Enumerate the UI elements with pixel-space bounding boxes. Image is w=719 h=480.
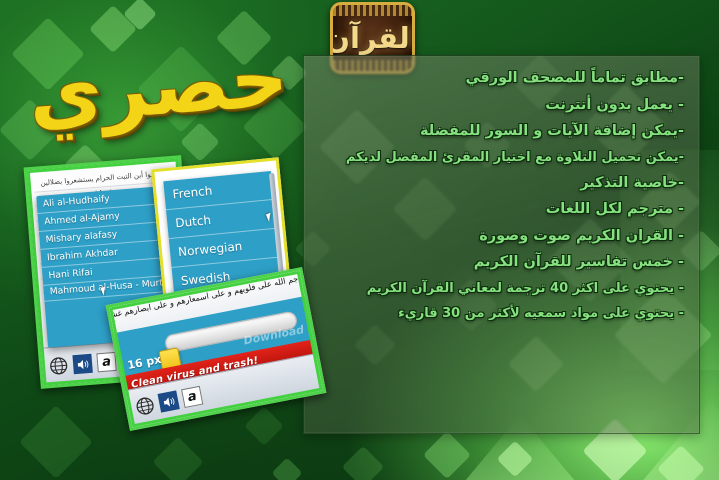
globe-icon[interactable] xyxy=(48,356,68,376)
audio-speaker-icon[interactable] xyxy=(72,354,92,374)
app-screenshot-cluster: لا يدعوا أبن التبت الحرام يستشعروا بضلال… xyxy=(18,155,318,420)
font-letter-icon[interactable]: a xyxy=(181,386,203,408)
poster-canvas: حصري القرآن -مطابق تماماً للمصحف الورقي … xyxy=(0,0,719,480)
feature-item: -خاصية التذكير xyxy=(317,170,686,197)
globe-icon[interactable] xyxy=(134,395,156,417)
feature-item: - يحتوي على مواد سمعيه لأكثر من 30 قاريء xyxy=(317,301,686,326)
audio-speaker-icon[interactable] xyxy=(158,390,180,412)
feature-item: -مطابق تماماً للمصحف الورقي xyxy=(317,65,686,92)
feature-item: - القران الكريم صوت وصورة xyxy=(317,223,686,250)
font-letter-icon[interactable]: a xyxy=(96,352,116,372)
feature-list-panel: -مطابق تماماً للمصحف الورقي - يعمل بدون … xyxy=(303,55,700,434)
feature-item: - يعمل بدون أنترنت xyxy=(317,92,686,119)
feature-item: -يمكن تحميل التلاوة مع اختيار المقرئ الم… xyxy=(317,145,686,170)
feature-item: -يمكن إضافة الآيات و السور للمفضلة xyxy=(317,118,686,145)
feature-item: - مترجم لكل اللغات xyxy=(317,196,686,223)
exclusive-badge: حصري xyxy=(55,28,291,144)
feature-item: - خمس تفاسير للقرآن الكريم xyxy=(317,249,686,276)
feature-item: - يحتوي على اكثر 40 ترجمة لمعاني القرآن … xyxy=(317,276,686,301)
